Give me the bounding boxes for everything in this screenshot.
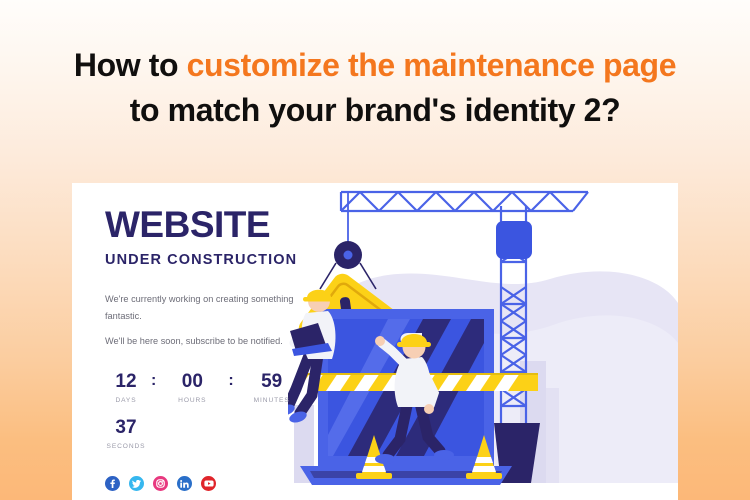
page-title: How to customize the maintenance page to…: [0, 46, 750, 130]
brand-title: WEBSITE: [105, 206, 355, 243]
countdown-separator-1: :: [151, 372, 156, 389]
countdown-hours-value: 00: [160, 372, 224, 391]
countdown-timer-row-1: 12 DAYS : 00 HOURS : 59 MINUTES :: [105, 372, 355, 404]
maintenance-page-preview-card: WEBSITE UNDER CONSTRUCTION We're current…: [72, 183, 678, 500]
countdown-minutes-label: MINUTES: [238, 397, 306, 404]
countdown-unit-days: 12 DAYS: [105, 372, 147, 404]
countdown-hours-label: HOURS: [160, 397, 224, 404]
linkedin-icon[interactable]: [177, 476, 192, 491]
brand-subtitle: UNDER CONSTRUCTION: [105, 252, 355, 268]
countdown-seconds-value: 37: [105, 418, 147, 437]
page-title-prefix: How to: [74, 47, 187, 83]
twitter-icon[interactable]: [129, 476, 144, 491]
countdown-days-value: 12: [105, 372, 147, 391]
countdown-separator-3: :: [310, 372, 315, 389]
maintenance-message: We're currently working on creating some…: [105, 291, 355, 350]
message-line-2: fantastic.: [105, 311, 142, 321]
countdown-unit-seconds: 37 SECONDS: [105, 418, 147, 450]
social-links: [105, 476, 355, 491]
countdown-unit-hours: 00 HOURS: [160, 372, 224, 404]
page-title-line2: to match your brand's identity 2?: [0, 91, 750, 130]
countdown-unit-minutes: 59 MINUTES: [238, 372, 306, 404]
page-title-accent: customize the maintenance page: [187, 47, 676, 83]
crane-cab: [496, 221, 532, 259]
message-line-1: We're currently working on creating some…: [105, 294, 293, 304]
countdown-seconds-label: SECONDS: [105, 443, 147, 450]
instagram-icon[interactable]: [153, 476, 168, 491]
countdown-separator-2: :: [228, 372, 233, 389]
facebook-icon[interactable]: [105, 476, 120, 491]
maintenance-content: WEBSITE UNDER CONSTRUCTION We're current…: [105, 206, 355, 491]
youtube-icon[interactable]: [201, 476, 216, 491]
message-line-3: We'll be here soon, subscribe to be noti…: [105, 333, 355, 350]
countdown-days-label: DAYS: [105, 397, 147, 404]
countdown-minutes-value: 59: [238, 372, 306, 391]
countdown-timer-row-2: 37 SECONDS: [105, 418, 355, 450]
